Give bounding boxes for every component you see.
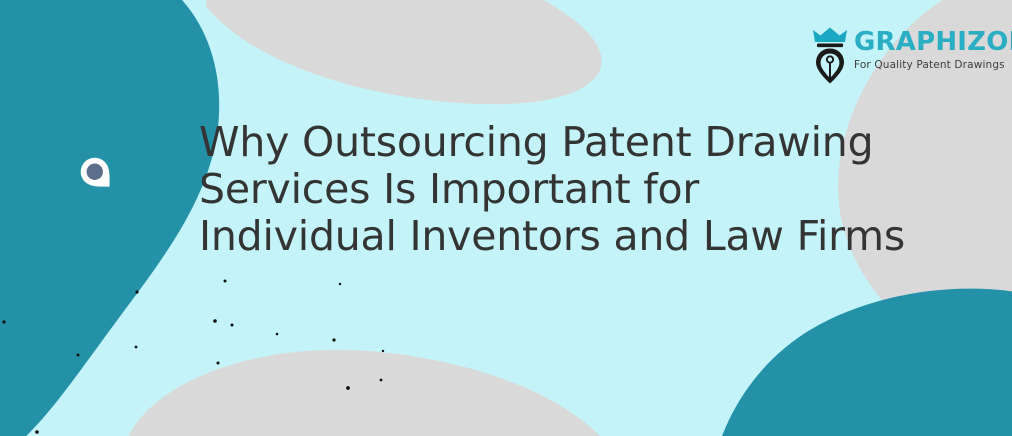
graphizon-logo[interactable]: GRAPHIZON For Quality Patent Drawings <box>810 26 990 84</box>
logo-wordmark: GRAPHIZON <box>854 29 1012 56</box>
page-title: Why Outsourcing Patent Drawing Services … <box>199 119 909 260</box>
article-header-banner: GRAPHIZON For Quality Patent Drawings Wh… <box>0 0 1012 436</box>
logo-text-block: GRAPHIZON For Quality Patent Drawings <box>854 26 1012 71</box>
crown-pen-nib-icon <box>810 26 850 84</box>
logo-tagline: For Quality Patent Drawings <box>854 59 1012 71</box>
